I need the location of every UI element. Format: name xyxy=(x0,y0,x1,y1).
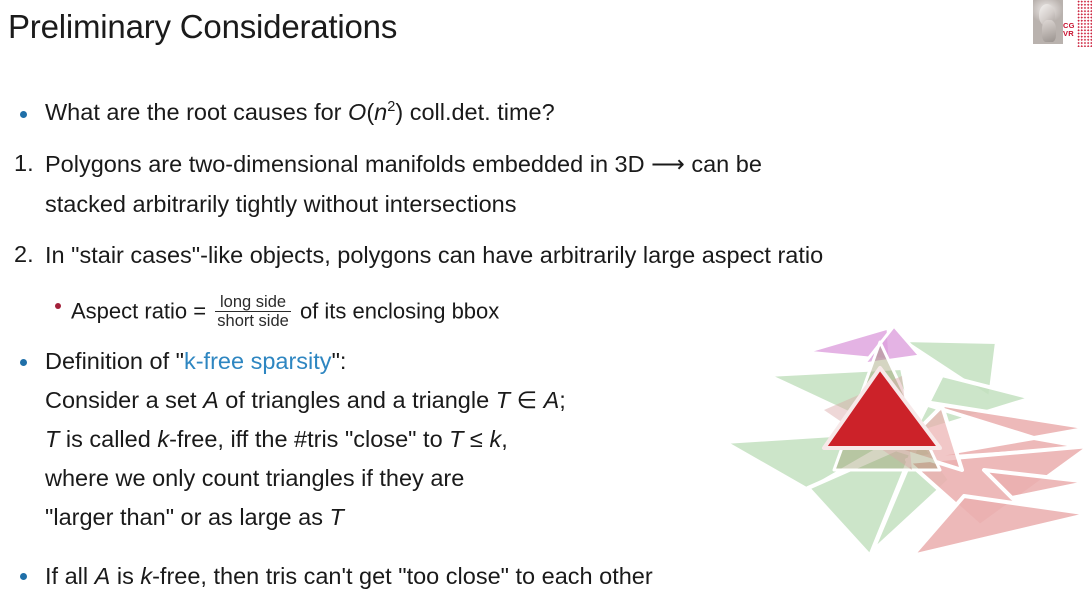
body-line-def-2: T is called k-free, iff the #tris "close… xyxy=(45,425,508,454)
body-line-conclusion: If all A is k-free, then tris can't get … xyxy=(45,562,653,591)
body-line-def-1: Consider a set A of triangles and a tria… xyxy=(45,386,566,415)
pink-triangle xyxy=(912,496,1090,556)
bullet-marker-1 xyxy=(20,111,27,118)
list-number-2: 2. xyxy=(14,241,34,268)
bullet-marker-sub-1 xyxy=(55,303,61,309)
body-line-def-4: "larger than" or as large as T xyxy=(45,503,344,532)
def-post: ": xyxy=(332,348,347,374)
def-link-k-free-sparsity[interactable]: k-free sparsity xyxy=(184,348,332,374)
red-dot-pattern-icon xyxy=(1077,0,1092,47)
triangles-svg xyxy=(712,320,1092,570)
aspect-ratio-prefix: Aspect ratio = xyxy=(71,299,206,324)
fraction-denominator: short side xyxy=(215,311,291,330)
body-line-def-title: Definition of "k-free sparsity": xyxy=(45,347,346,376)
body-line-n1-a: Polygons are two-dimensional manifolds e… xyxy=(45,150,762,179)
page-title: Preliminary Considerations xyxy=(8,8,397,46)
pink-triangle-group xyxy=(898,400,1090,556)
bullet-marker-3 xyxy=(20,573,27,580)
aspect-ratio-suffix: of its enclosing bbox xyxy=(300,299,499,324)
cgvr-logo: CG VR xyxy=(1033,0,1092,47)
body-line-n2-a: In "stair cases"-like objects, polygons … xyxy=(45,241,823,270)
fraction-numerator: long side xyxy=(215,293,291,311)
aspect-ratio-fraction: long side short side xyxy=(215,293,291,330)
body-line-n1-b: stacked arbitrarily tightly without inte… xyxy=(45,190,517,219)
bullet-marker-2 xyxy=(20,359,27,366)
violet-triangle-group xyxy=(806,326,920,364)
body-line-aspect-ratio: Aspect ratio = long side short side of i… xyxy=(71,293,499,330)
list-number-1: 1. xyxy=(14,150,34,177)
slide-canvas: CG VR Preliminary Considerations What ar… xyxy=(0,0,1092,600)
k-free-sparsity-triangles-diagram xyxy=(712,320,1092,570)
statue-image-icon xyxy=(1033,0,1063,44)
body-line-question: What are the root causes for O(n2) coll.… xyxy=(45,98,555,127)
def-pre: Definition of " xyxy=(45,348,184,374)
body-line-def-3: where we only count triangles if they ar… xyxy=(45,464,464,493)
